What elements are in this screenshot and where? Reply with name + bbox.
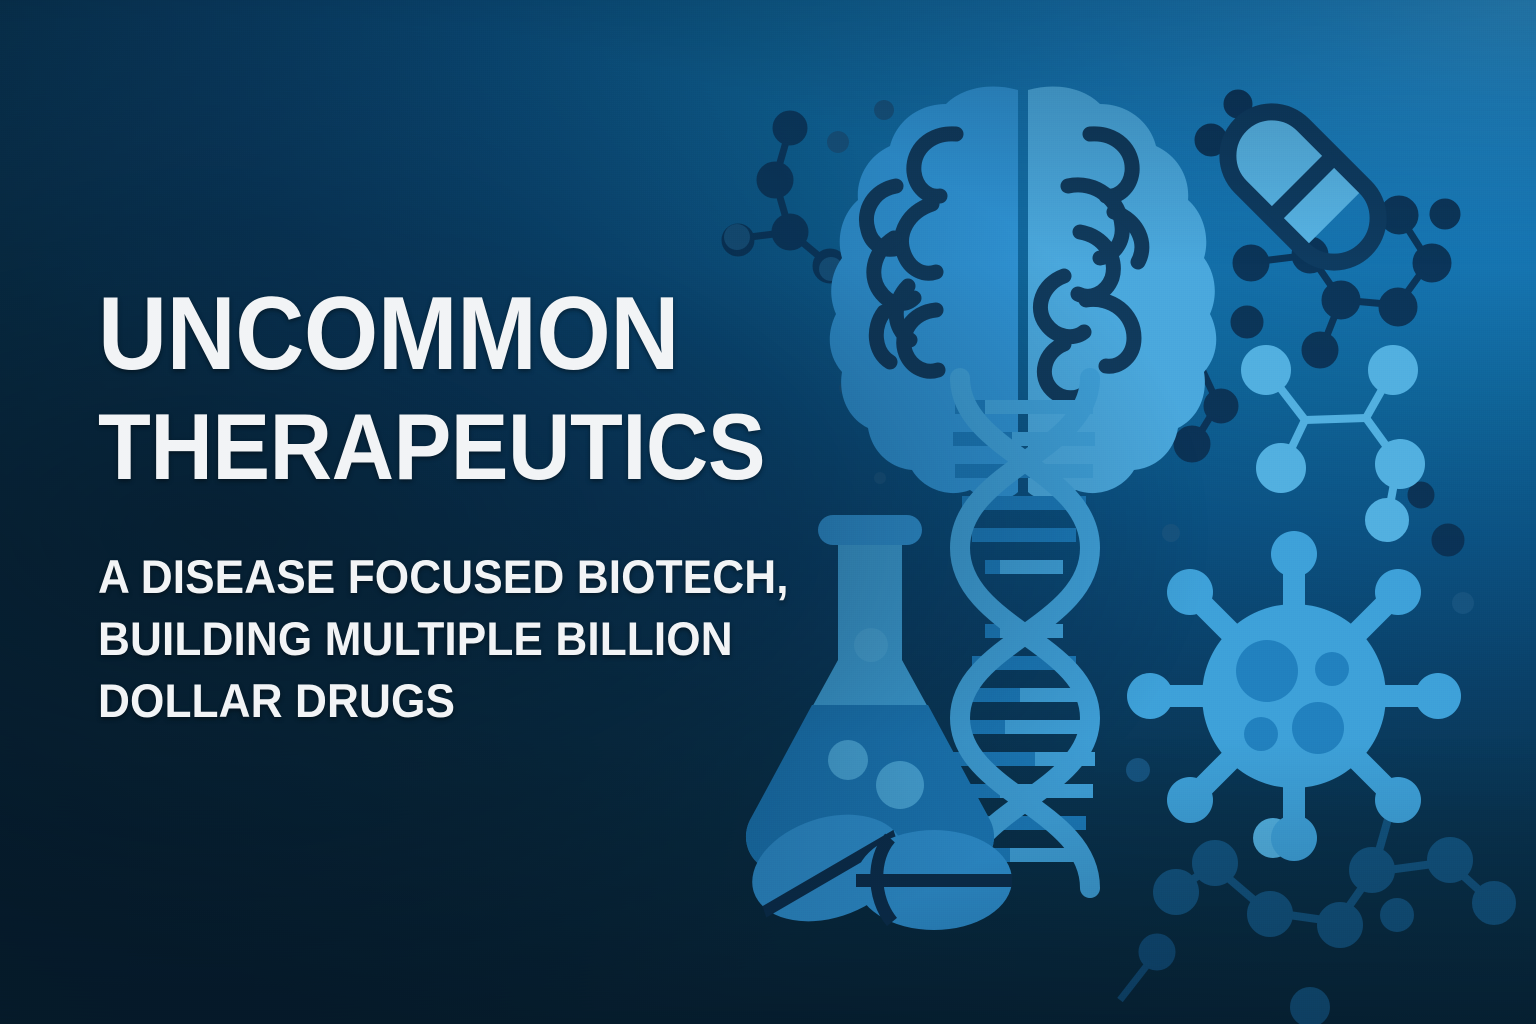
- subtitle-line-1: A DISEASE FOCUSED BIOTECH,: [98, 546, 794, 608]
- banner-canvas: UNCOMMON THERAPEUTICS A DISEASE FOCUSED …: [0, 0, 1536, 1024]
- headline-block: UNCOMMON THERAPEUTICS A DISEASE FOCUSED …: [98, 282, 838, 732]
- subtitle-line-3: DOLLAR DRUGS: [98, 670, 794, 732]
- subtitle-line-2: BUILDING MULTIPLE BILLION: [98, 608, 794, 670]
- page-title-line-2: THERAPEUTICS: [98, 400, 779, 494]
- page-title-line-1: UNCOMMON: [98, 282, 779, 386]
- subtitle: A DISEASE FOCUSED BIOTECH, BUILDING MULT…: [98, 546, 794, 732]
